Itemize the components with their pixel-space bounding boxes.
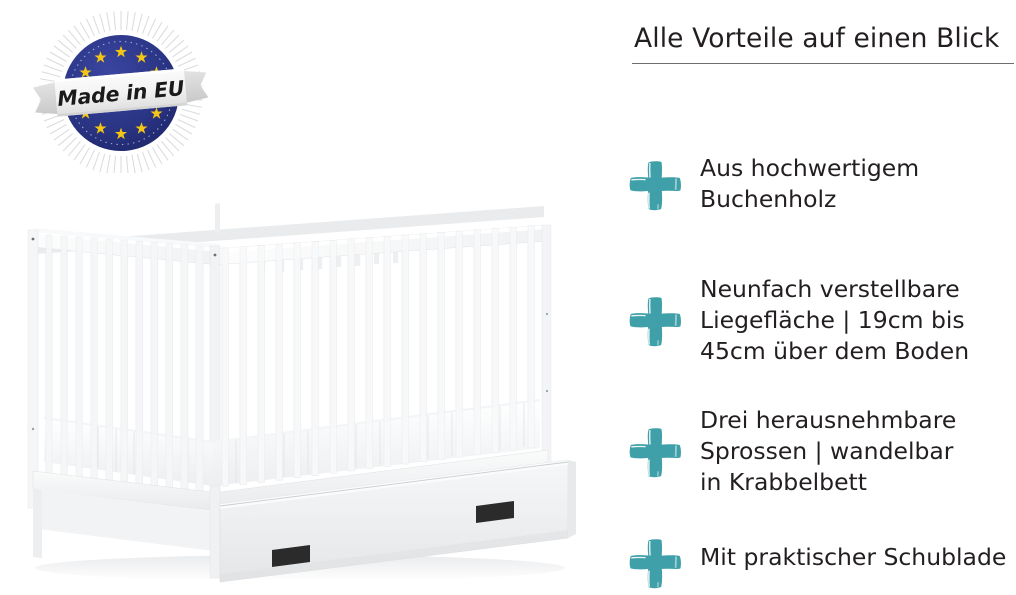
benefit-item-1: Aus hochwertigem Buchenholz xyxy=(628,152,919,216)
baby-crib-illustration xyxy=(0,186,610,595)
plus-brush-icon-glyph xyxy=(628,425,686,483)
page-title: Alle Vorteile auf einen Blick xyxy=(634,22,1016,56)
benefit-text: Aus hochwertigem Buchenholz xyxy=(700,152,919,215)
title-divider xyxy=(632,63,1014,64)
crib-right-post xyxy=(542,225,551,477)
benefit-item-2: Neunfach verstellbare Liegefläche | 19cm… xyxy=(628,273,969,367)
plus-brush-icon xyxy=(628,536,686,594)
product-image xyxy=(0,186,610,595)
plus-brush-icon-glyph xyxy=(628,536,686,594)
benefit-text: Neunfach verstellbare Liegefläche | 19cm… xyxy=(700,273,969,367)
made-in-eu-badge-icon: Made in EU xyxy=(26,8,216,173)
benefit-text: Drei herausnehmbare Sprossen | wandelbar… xyxy=(700,404,956,498)
badge-ribbon: Made in EU xyxy=(32,67,209,119)
plus-brush-icon xyxy=(628,158,686,216)
crib-left-post xyxy=(28,230,38,508)
benefit-text: Mit praktischer Schublade xyxy=(700,541,1006,573)
plus-brush-icon xyxy=(628,425,686,483)
benefit-item-4: Mit praktischer Schublade xyxy=(628,541,1006,594)
benefits-panel: Alle Vorteile auf einen Blick xyxy=(628,22,1016,582)
plus-brush-icon-glyph xyxy=(628,294,686,352)
benefit-item-3: Drei herausnehmbare Sprossen | wandelbar… xyxy=(628,404,956,498)
infographic-canvas: Made in EU xyxy=(0,0,1016,595)
plus-brush-icon xyxy=(628,294,686,352)
plus-brush-icon-glyph xyxy=(628,158,686,216)
made-in-eu-badge: Made in EU xyxy=(26,8,216,173)
